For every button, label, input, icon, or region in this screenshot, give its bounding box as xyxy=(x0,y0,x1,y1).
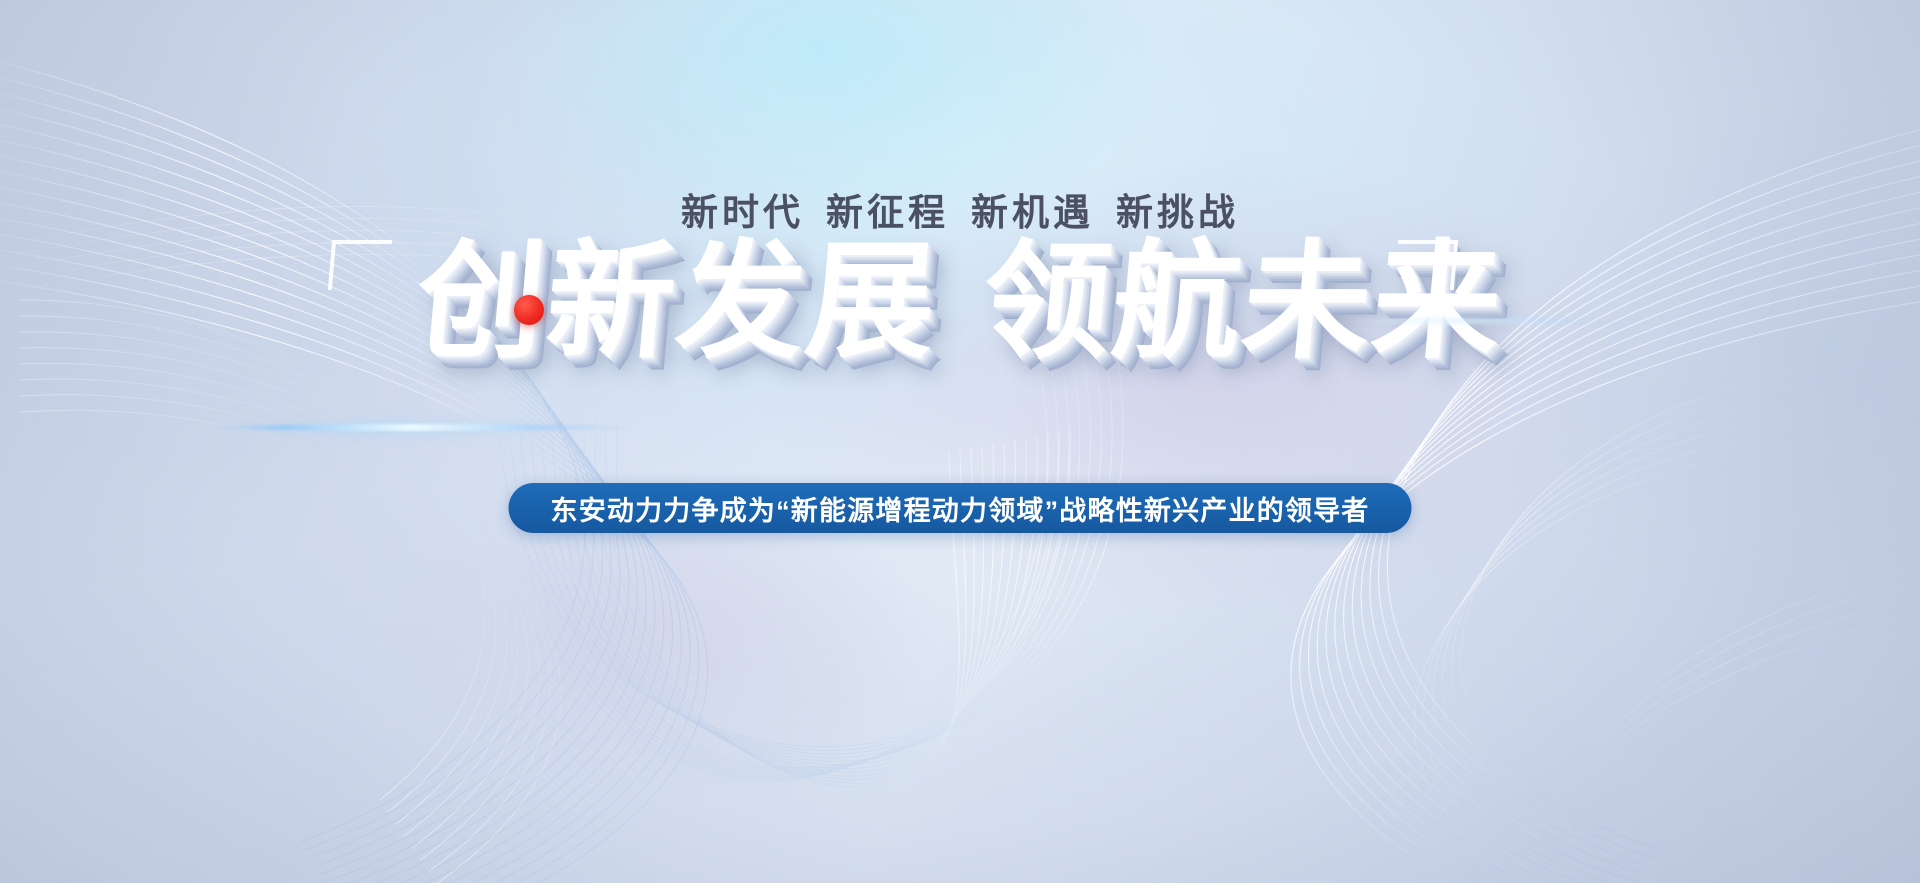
slogan-pill: 东安动力力争成为“新能源增程动力领域”战略性新兴产业的领导者 xyxy=(509,483,1412,533)
headline-part-left: 创新发展 xyxy=(411,231,944,374)
headline-wrapper: 创新发展领航未来 xyxy=(0,228,1920,378)
light-streak-flare-right xyxy=(1330,318,1630,324)
light-streak-flare xyxy=(210,424,630,431)
slogan-pill-text: 东安动力力争成为“新能源增程动力领域”战略性新兴产业的领导者 xyxy=(551,489,1370,528)
tagline-segment-1: 新时代 xyxy=(681,192,804,233)
corner-bracket-left-icon xyxy=(328,240,392,290)
tagline-segment-4: 新挑战 xyxy=(1116,192,1239,233)
tagline-segment-2: 新征程 xyxy=(826,192,949,233)
corner-bracket-right-icon xyxy=(1394,240,1458,290)
headline: 创新发展领航未来 xyxy=(410,228,1509,378)
banner-stage: 新时代新征程新机遇新挑战 创新发展领航未来 东安动力力争成为“新能源增程动力领域… xyxy=(0,0,1920,883)
background-vignette xyxy=(0,0,1920,883)
tagline-segment-3: 新机遇 xyxy=(971,192,1094,233)
red-dot-accent-icon xyxy=(514,295,544,325)
